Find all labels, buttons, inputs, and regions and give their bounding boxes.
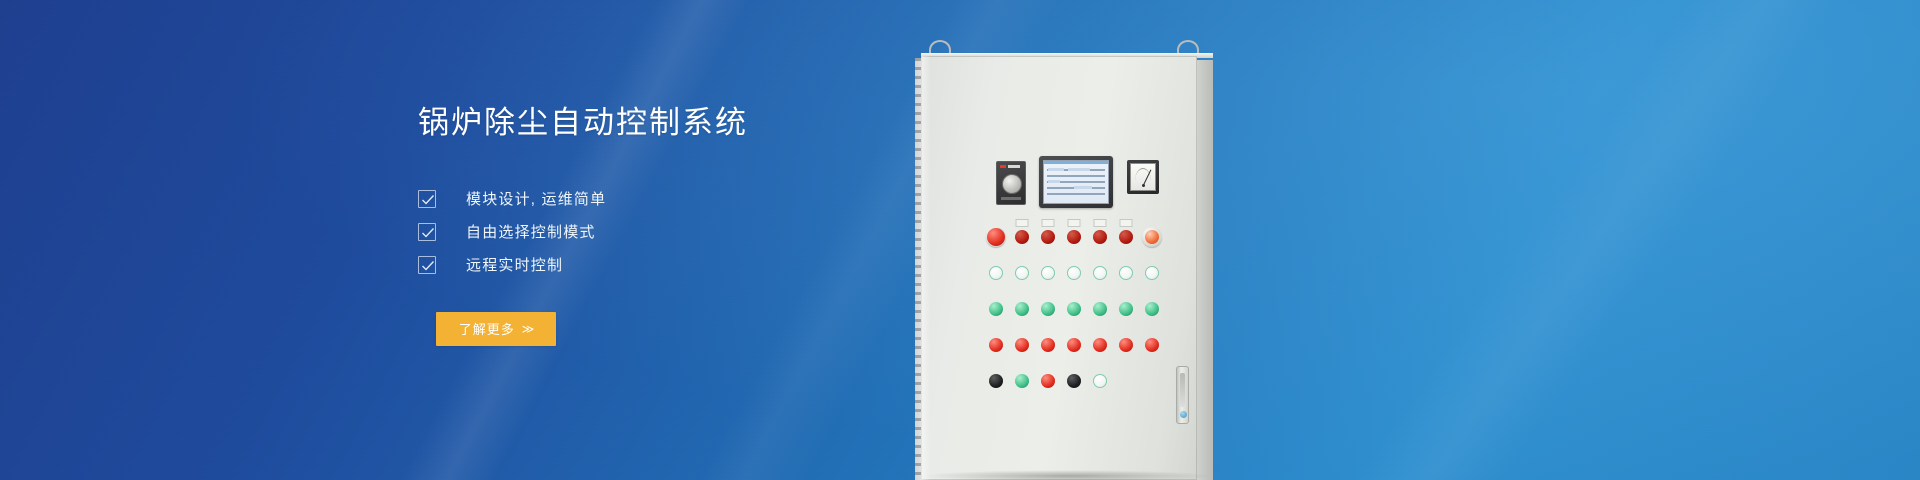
indicator-lamp[interactable] (1061, 260, 1087, 286)
banner-copy: 锅炉除尘自动控制系统 模块设计, 运维简单 自由选择控制模式 (418, 104, 888, 346)
drive-bar-icon (1001, 197, 1021, 200)
button-row (983, 224, 1165, 250)
indicator-lamp[interactable] (1087, 260, 1113, 286)
cabinet-shadow (921, 470, 1213, 480)
indicator-lamp[interactable] (1087, 296, 1113, 322)
list-item: 自由选择控制模式 (418, 216, 888, 248)
meter-face (1130, 163, 1156, 191)
hmi-cell (1068, 168, 1090, 171)
button-row (983, 296, 1165, 322)
indicator-lamp[interactable] (1035, 224, 1061, 250)
feature-label: 自由选择控制模式 (466, 221, 596, 242)
indicator-lamp[interactable] (1035, 332, 1061, 358)
check-icon (418, 256, 436, 274)
selector-switch[interactable] (1035, 368, 1061, 394)
indicator-lamp[interactable] (1113, 260, 1139, 286)
indicator-lamp[interactable] (1009, 296, 1035, 322)
indicator-lamp[interactable] (1139, 260, 1165, 286)
door-handle[interactable] (1176, 366, 1189, 424)
indicator-lamp[interactable] (1009, 260, 1035, 286)
hmi-row (1047, 193, 1105, 195)
button-row (983, 332, 1165, 358)
meter-pivot (1142, 184, 1145, 187)
indicator-lamp[interactable] (1061, 296, 1087, 322)
indicator-lamp[interactable] (1061, 332, 1087, 358)
feature-list: 模块设计, 运维简单 自由选择控制模式 远程实时控制 (418, 183, 888, 281)
button-row (983, 368, 1165, 394)
indicator-lamp[interactable] (983, 260, 1009, 286)
hero-banner: 锅炉除尘自动控制系统 模块设计, 运维简单 自由选择控制模式 (0, 0, 1920, 480)
hmi-title-bar (1044, 161, 1108, 164)
indicator-lamp[interactable] (1087, 332, 1113, 358)
cabinet-side-panel (1197, 60, 1213, 480)
handle-slot (1180, 373, 1185, 407)
button-row (983, 260, 1165, 286)
indicator-lamp[interactable] (983, 332, 1009, 358)
indicator-lamp[interactable] (983, 296, 1009, 322)
hmi-screen-content (1043, 160, 1109, 204)
indicator-lamp[interactable] (1139, 332, 1165, 358)
indicator-lamp[interactable] (1035, 296, 1061, 322)
indicator-lamp[interactable] (1009, 332, 1035, 358)
feature-label: 远程实时控制 (466, 254, 563, 275)
indicator-lamp[interactable] (1113, 332, 1139, 358)
hmi-cell (1048, 168, 1064, 171)
page-title: 锅炉除尘自动控制系统 (418, 104, 888, 143)
selector-switch[interactable] (983, 368, 1009, 394)
selector-switch[interactable] (1009, 368, 1035, 394)
indicator-lamp[interactable] (1087, 224, 1113, 250)
product-image (905, 0, 1235, 480)
chevron-right-icon: ≫ (522, 322, 534, 336)
feature-label: 模块设计, 运维简单 (466, 188, 606, 209)
list-item: 模块设计, 运维简单 (418, 183, 888, 215)
hmi-cell (1074, 186, 1092, 189)
selector-switch[interactable] (1061, 368, 1087, 394)
indicator-lamp[interactable] (1139, 296, 1165, 322)
check-icon (418, 223, 436, 241)
learn-more-button[interactable]: 了解更多 ≫ (436, 312, 556, 346)
analog-meter (1127, 160, 1159, 194)
indicator-lamp[interactable] (1139, 224, 1165, 250)
indicator-lamp[interactable] (1113, 224, 1139, 250)
indicator-lamp[interactable] (1061, 224, 1087, 250)
frequency-drive-module (996, 161, 1026, 205)
indicator-lamp[interactable] (1035, 260, 1061, 286)
drive-led-icon (1000, 165, 1006, 168)
drive-knob-icon (1002, 174, 1022, 194)
indicator-lamp[interactable] (1009, 224, 1035, 250)
learn-more-label: 了解更多 (459, 319, 515, 338)
button-grid (983, 224, 1165, 404)
cabinet-door (921, 56, 1197, 480)
handle-lock-icon (1180, 411, 1187, 418)
push-button-emergency[interactable] (983, 224, 1009, 250)
selector-switch[interactable] (1087, 368, 1113, 394)
check-icon (418, 190, 436, 208)
hmi-cell (1048, 180, 1060, 183)
indicator-lamp[interactable] (1113, 296, 1139, 322)
hmi-touchscreen[interactable] (1039, 156, 1113, 208)
drive-display-icon (1008, 165, 1020, 168)
hmi-row (1047, 175, 1105, 177)
list-item: 远程实时控制 (418, 249, 888, 281)
